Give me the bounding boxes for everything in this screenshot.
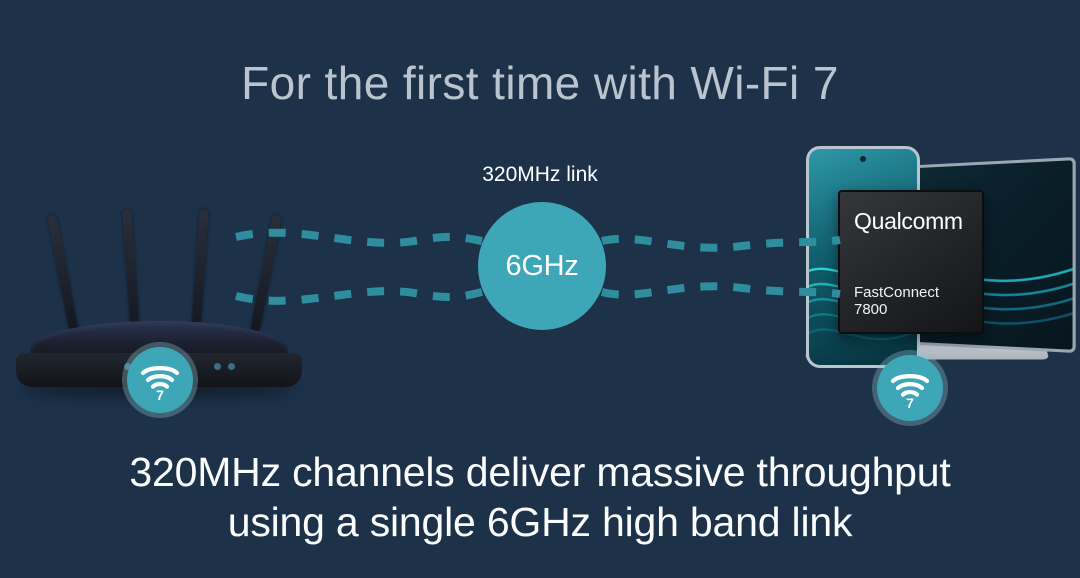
caption-line-2: using a single 6GHz high band link [0, 497, 1080, 547]
chip-model-label: FastConnect 7800 [854, 284, 939, 318]
wifi-generation-number: 7 [156, 387, 164, 402]
wifi7-badge-router: 7 [127, 347, 193, 413]
band-circle: 6GHz [478, 202, 606, 330]
chip-model-line-1: FastConnect [854, 284, 939, 301]
wifi-icon: 7 [137, 358, 183, 402]
wifi7-badge-device: 7 [877, 355, 943, 421]
wifi-icon: 7 [887, 366, 933, 410]
page-title: For the first time with Wi-Fi 7 [0, 56, 1080, 110]
qualcomm-logo: Qualcomm [854, 208, 963, 235]
phone-front-camera [860, 156, 866, 162]
router-antenna-3 [191, 209, 209, 335]
router-led-3 [214, 363, 221, 370]
slide-canvas: For the first time with Wi-Fi 7 [0, 0, 1080, 578]
chip-model-line-2: 7800 [854, 301, 939, 318]
router-antenna-4 [250, 214, 282, 334]
qualcomm-chip: Qualcomm FastConnect 7800 [838, 190, 984, 334]
band-label: 6GHz [506, 250, 579, 283]
router-antenna-1 [47, 214, 79, 334]
router-led-4 [228, 363, 235, 370]
caption: 320MHz channels deliver massive throughp… [0, 447, 1080, 547]
router-antenna-2 [122, 209, 140, 335]
link-bandwidth-label: 320MHz link [0, 163, 1080, 187]
caption-line-1: 320MHz channels deliver massive throughp… [0, 447, 1080, 497]
wifi-generation-number: 7 [906, 395, 914, 410]
